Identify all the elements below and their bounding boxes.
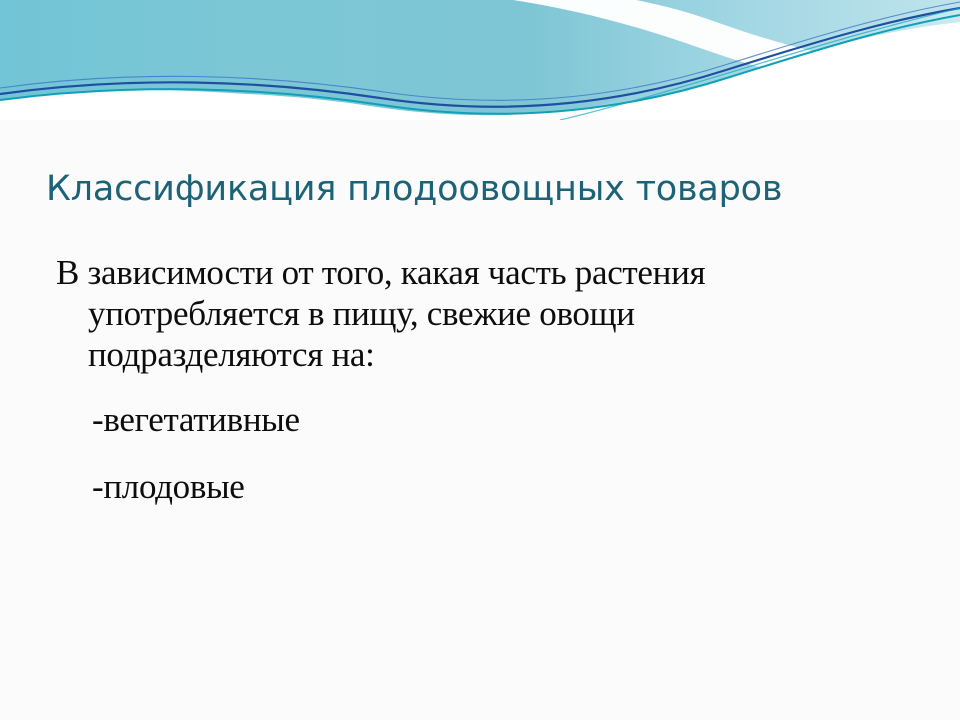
white-wave-lower	[0, 22, 960, 120]
wave-banner-svg	[0, 0, 960, 120]
teal-band	[0, 0, 960, 119]
list-item: -плодовые	[40, 466, 920, 507]
accent-line-teal	[0, 15, 960, 114]
page-title: Классификация плодоовощных товаров	[46, 166, 926, 212]
accent-line-navy-upper	[0, 2, 960, 100]
wave-banner-decor	[0, 0, 960, 120]
white-swoosh-upper	[420, 0, 960, 96]
list-item: -вегетативные	[40, 399, 920, 440]
accent-hairline-right	[560, 8, 960, 120]
slide-body: В зависимости от того, какая часть расте…	[40, 252, 920, 507]
accent-line-navy	[0, 8, 960, 107]
teal-sweep-right	[470, 10, 960, 120]
body-paragraph: В зависимости от того, какая часть расте…	[40, 252, 788, 375]
slide: Классификация плодоовощных товаров В зав…	[0, 0, 960, 720]
